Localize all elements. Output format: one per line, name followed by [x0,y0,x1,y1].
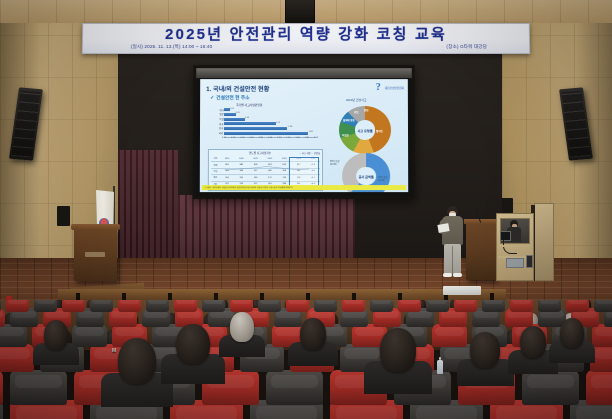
auditorium-seat[interactable] [118,300,141,312]
bar-chart: 국가별 사고사망만인율 영국0.12일본0.25독일0.45미국1.12한국1.… [208,103,318,143]
bar-chart-tick: 0.60 [249,137,253,139]
projection-screen: 1. 국내/외 건설안전 현황 ✓건설안전 현 주소 ? 대한건설안전협회 국가… [193,65,416,199]
bar-category-label: 미국 [219,122,223,126]
banner-location: (장소) G타워 대강당 [446,44,487,50]
trend-line [221,164,317,174]
donut-bottom-label-0-text: 50억 미만 [378,177,388,179]
stage-front-table [443,286,481,295]
auditorium-seat[interactable] [286,300,309,312]
bar-chart-tick: 1.40 [286,137,290,139]
auditorium-seat[interactable] [34,300,57,312]
bar-chart-bar: 미국1.12 [224,122,276,125]
bar-category-label: 한국 [219,126,223,130]
bar-chart-tick: 0.40 [240,137,244,139]
donut-top-slice-label-2: 물체에 맞음 [343,118,355,122]
donut-top-slice-label-3: 끼임 [354,110,358,114]
bar-fill [224,132,308,135]
auditorium-seat[interactable] [6,300,29,312]
donut-chart-accident-type: 2024년 건설사고 사고 유형별 떨어짐 부딪힘 물체에 맞음 끼임 깔림 [332,99,398,155]
bar-fill [224,122,276,125]
bar-chart-bar: 독일0.45 [224,118,245,121]
bar-chart-tick: 0.20 [231,137,235,139]
audience-seating: M 10 [0,300,612,419]
bar-category-label: 터키 [219,131,223,135]
bar-chart-bar: 영국0.12 [224,108,230,111]
bar-category-label: 독일 [219,117,223,121]
auditorium-seat[interactable] [90,300,113,312]
bar-chart-tick: 0.80 [259,137,263,139]
audience-member-head [44,320,68,350]
audience-member-head [520,326,546,358]
donut-bottom-slice-label-1: 50억 이상 38.0% [330,161,340,167]
bar-fill [224,113,236,116]
presentation-slide: 1. 국내/외 건설안전 현황 ✓건설안전 현 주소 ? 대한건설안전협회 국가… [200,79,408,192]
seat-row-label: M [112,348,116,354]
auditorium-seat[interactable] [454,300,477,312]
auditorium-seat[interactable] [510,300,533,312]
stage-curtain-center [150,195,355,265]
bar-chart-tick: 2.00 [314,137,318,139]
slide-subtitle-text: 건설안전 현 주소 [216,96,250,101]
bar-value-label: 0.12 [230,108,234,110]
audience-member-head [176,324,210,364]
bar-value-label: 1.38 [288,126,292,128]
auditorium-seat[interactable] [426,300,449,312]
donut-bottom-ring: 공사 금액별 [342,153,390,192]
auditorium-seat[interactable] [258,300,281,312]
auditorium-seat[interactable] [146,300,169,312]
slide-title: 1. 국내/외 건설안전 현황 [206,84,269,93]
donut-top-slice-label-4: 깔림 [364,108,368,112]
bar-fill [224,127,287,130]
table-legend: — 사고 사망 — 만인율 [299,151,320,155]
booth-device [526,255,533,268]
bar-value-label: 0.25 [236,112,240,114]
bar-chart-tick: 1.60 [295,137,299,139]
presenter-shoe-right [453,273,462,277]
water-bottle [437,360,443,374]
audience-member-head [300,318,326,350]
question-mark-icon: ? [374,82,383,93]
podium-left-nameplate [85,252,105,257]
donut-top-ring: 사고 유형별 [339,106,391,154]
donut-bottom-label-0-pct: 62.0% [378,180,385,182]
slide-subtitle: ✓건설안전 현 주소 [210,94,250,101]
screen-top-valance [196,68,412,78]
bar-fill [224,118,245,121]
auditorium-seat[interactable] [370,300,393,312]
bar-chart-tick: 0.00 [222,137,226,139]
bar-chart-title: 국가별 사고사망만인율 [236,103,262,107]
bar-chart-bar: 한국1.38 [224,127,287,130]
bar-chart-plot: 영국0.12일본0.25독일0.45미국1.12한국1.38터키1.82 [224,108,316,136]
donut-bottom-center-label: 공사 금액별 [342,153,390,192]
bar-chart-bar: 터키1.82 [224,132,308,135]
check-icon: ✓ [210,96,214,101]
presenter-shoe-left [443,273,452,277]
auditorium-seat[interactable] [594,300,612,312]
bar-chart-tick: 1.80 [305,137,309,139]
auditorium-seat[interactable] [342,300,365,312]
bar-category-label: 일본 [220,112,224,116]
event-banner: 2025년 안전관리 역량 강화 코칭 교육 (일시) 2025. 11. 13… [82,23,530,54]
audience-member-head [560,318,584,348]
audience-member-head [230,312,254,342]
control-booth-panel-back [534,203,554,281]
audience-member-head [470,332,500,368]
donut-bottom-label-1-text: 50억 이상 [330,161,340,163]
wall-vent-left [57,206,70,226]
bar-chart-bar: 일본0.25 [224,113,236,116]
bar-value-label: 1.82 [309,131,313,133]
banner-title: 2025년 안전관리 역량 강화 코칭 교육 [165,27,447,43]
banner-subtitle-row: (일시) 2025. 11. 13.(목) 14:00 ~ 16:40 (장소)… [83,42,529,50]
auditorium-seat[interactable] [538,300,561,312]
ceiling-projector-mount [285,0,315,23]
bar-chart-ticks: 0.000.200.400.600.801.001.201.401.601.80… [224,137,316,143]
booth-cable [503,240,517,254]
auditorium-seat[interactable] [62,300,85,312]
donut-chart-contract-amount: 공사 금액별 50억 이상 38.0% 50억 미만 62.0% [332,151,398,192]
banner-datetime: (일시) 2025. 11. 13.(목) 14:00 ~ 16:40 [131,44,212,50]
slide-logo: ? 대한건설안전협회 [374,82,404,93]
bar-chart-tick: 1.00 [268,137,272,139]
donut-bottom-slice-label-0: 50억 미만 62.0% [378,177,388,183]
auditorium-seat[interactable] [202,300,225,312]
table-title: 연도별 사고사망자수 [249,151,271,155]
stage-curtain-left [118,150,178,265]
auditorium-seat[interactable] [482,300,505,312]
donut-top-center-label: 사고 유형별 [339,106,391,154]
stage-podium-left [74,228,117,281]
booth-equipment-box [506,258,524,268]
lectern [466,222,496,280]
auditorium-seat[interactable] [566,300,589,312]
slide-logo-text: 대한건설안전협회 [385,86,404,90]
auditorium-photo: 2025년 안전관리 역량 강화 코칭 교육 (일시) 2025. 11. 13… [0,0,612,419]
bar-value-label: 0.45 [245,117,249,119]
auditorium-seat[interactable] [230,300,253,312]
auditorium-seat[interactable] [398,300,421,312]
auditorium-seat[interactable] [0,300,1,312]
booth-rail-upper [498,245,532,247]
auditorium-seat[interactable] [314,300,337,312]
audience-member-head [118,338,156,384]
presenter-leg-split [452,246,453,274]
bar-value-label: 1.12 [276,122,280,124]
auditorium-seat[interactable] [174,300,197,312]
presenter [440,206,466,280]
bar-category-label: 영국 [220,108,224,112]
donut-top-slice-label-1: 부딪힘 [342,133,349,137]
podium-left-top [71,224,120,230]
bar-chart-tick: 1.20 [277,137,281,139]
audience-member-head [380,328,416,372]
donut-bottom-label-1-pct: 38.0% [330,164,337,166]
donut-top-caption: 2024년 건설사고 [346,98,367,102]
donut-top-slice-label-0: 떨어짐 [376,129,383,133]
